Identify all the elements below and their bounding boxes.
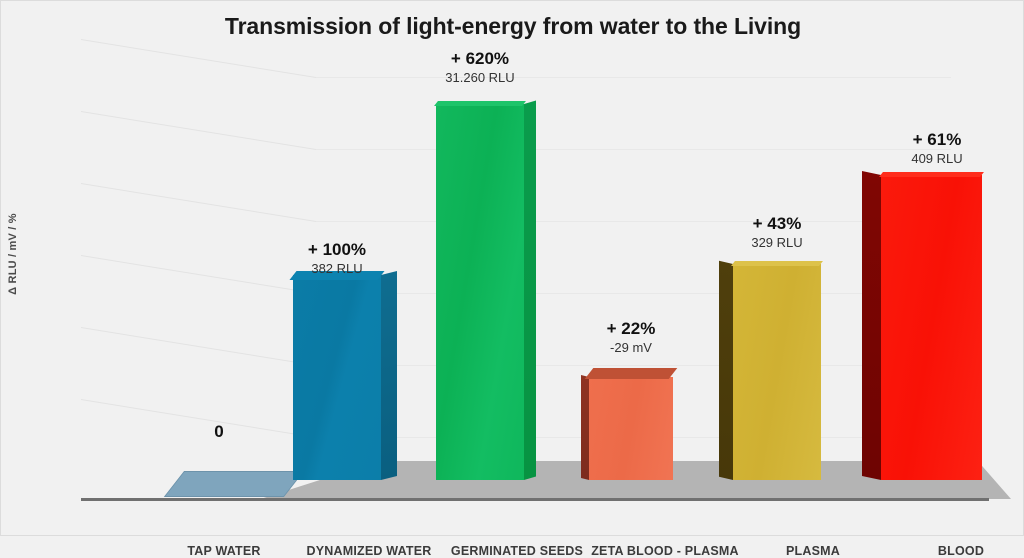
chart-title: Transmission of light-energy from water …	[1, 13, 1024, 40]
value-percent: + 620%	[385, 48, 575, 69]
bar-side-face	[524, 101, 536, 480]
bar-zeta-blood-plasma[interactable]	[589, 377, 673, 480]
bar-top-face	[434, 101, 526, 106]
bar-top-face	[731, 261, 823, 266]
plot-area: 0 + 100% 382 RLU + 620% 31.260 RLU + 22%…	[61, 41, 1011, 496]
bar-front-face	[436, 104, 524, 480]
value-measurement: 31.260 RLU	[385, 69, 575, 86]
value-label-dynamized-water: + 100% 382 RLU	[242, 239, 432, 277]
bar-germinated-seeds[interactable]	[436, 104, 524, 480]
value-label-germinated-seeds: + 620% 31.260 RLU	[385, 48, 575, 86]
bar-front-face	[293, 275, 381, 480]
bar-side-face	[581, 375, 589, 480]
value-label-zeta-blood-plasma: + 22% -29 mV	[536, 318, 726, 356]
floor-front-edge	[81, 498, 989, 501]
bar-front-face	[589, 377, 673, 480]
value-percent: + 43%	[682, 213, 872, 234]
value-label-blood: + 61% 409 RLU	[842, 129, 1024, 167]
value-measurement: 329 RLU	[682, 234, 872, 251]
bar-side-face	[381, 271, 397, 480]
value-label-tap-water: 0	[124, 421, 314, 442]
value-measurement: 409 RLU	[842, 150, 1024, 167]
chart-container: Transmission of light-energy from water …	[0, 0, 1024, 536]
value-percent: 0	[124, 421, 314, 442]
bar-side-face	[719, 261, 733, 480]
bar-plasma[interactable]	[733, 264, 821, 480]
value-measurement: 382 RLU	[242, 260, 432, 277]
bar-top-face	[585, 368, 678, 379]
bar-tap-water[interactable]	[164, 471, 304, 497]
value-percent: + 22%	[536, 318, 726, 339]
bar-dynamized-water[interactable]	[293, 275, 381, 480]
bar-blood[interactable]	[881, 175, 982, 480]
value-percent: + 100%	[242, 239, 432, 260]
x-axis-label-blood: BLOOD	[861, 544, 1024, 558]
value-percent: + 61%	[842, 129, 1024, 150]
bar-top-face	[879, 172, 984, 177]
y-axis-label: Δ RLU / mV / %	[7, 179, 19, 329]
bar-front-face	[733, 264, 821, 480]
value-measurement: -29 mV	[536, 339, 726, 356]
bar-front-face	[881, 175, 982, 480]
value-label-plasma: + 43% 329 RLU	[682, 213, 872, 251]
